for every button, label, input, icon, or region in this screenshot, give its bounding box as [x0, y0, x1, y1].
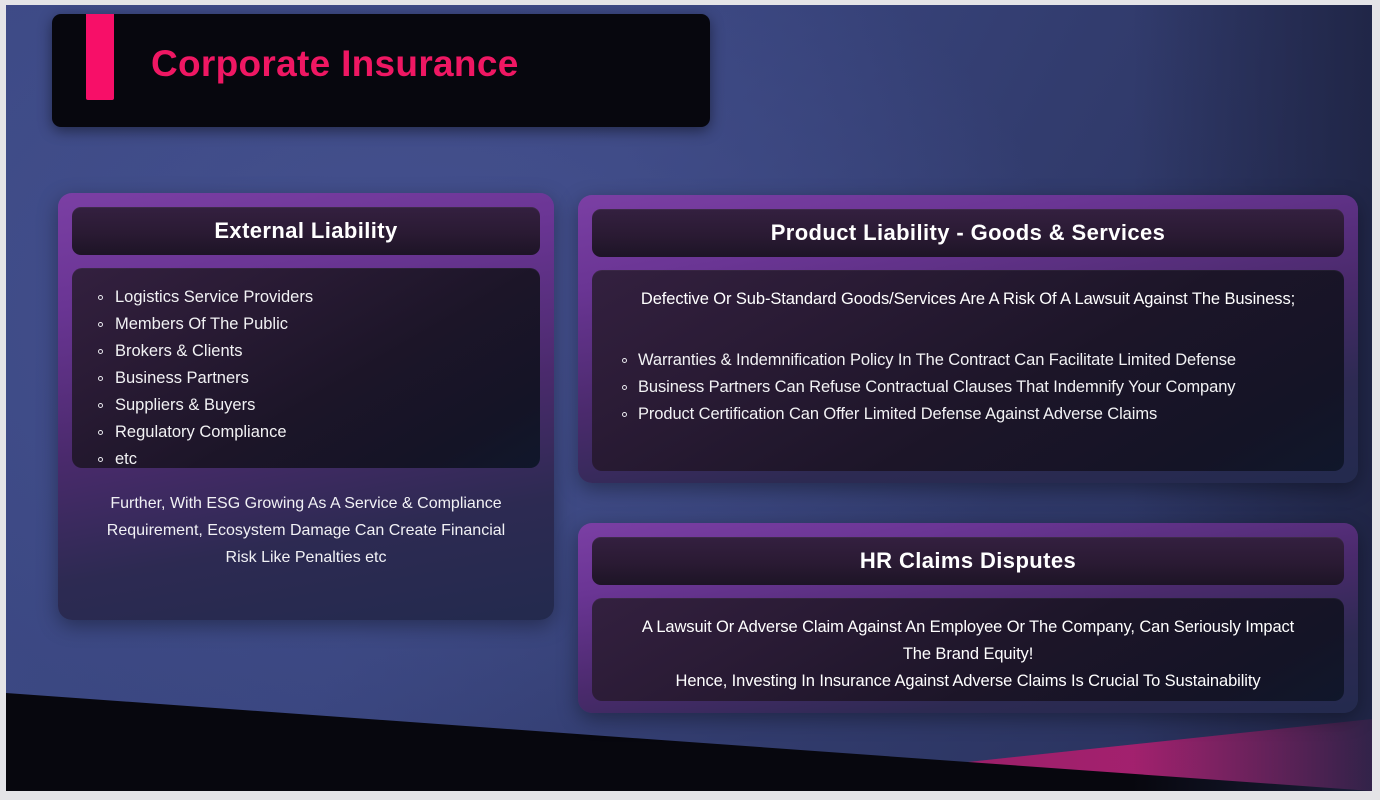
list-item: Members Of The Public [98, 311, 540, 338]
bullet-dot-icon [98, 403, 103, 408]
card-external-liability: External Liability Logistics Service Pro… [58, 193, 554, 620]
bullet-dot-icon [98, 457, 103, 462]
list-item: etc [98, 446, 540, 473]
list-item-label: etc [115, 450, 137, 468]
list-item-label: Warranties & Indemnification Policy In T… [638, 351, 1236, 369]
product-liability-lead-text: Defective Or Sub-Standard Goods/Services… [610, 290, 1326, 309]
card-hr-claims-disputes: HR Claims Disputes A Lawsuit Or Adverse … [578, 523, 1358, 713]
list-item-label: Logistics Service Providers [115, 288, 313, 306]
hr-claims-line-1: A Lawsuit Or Adverse Claim Against An Em… [606, 614, 1330, 641]
card-header-product-liability: Product Liability - Goods & Services [592, 209, 1344, 257]
external-liability-bullet-list: Logistics Service Providers Members Of T… [98, 284, 540, 473]
bullet-dot-icon [98, 295, 103, 300]
list-item-label: Business Partners [115, 369, 249, 387]
bullet-dot-icon [98, 349, 103, 354]
hr-claims-line-3: Hence, Investing In Insurance Against Ad… [606, 668, 1330, 695]
card-product-liability: Product Liability - Goods & Services Def… [578, 195, 1358, 483]
card-title-product-liability: Product Liability - Goods & Services [771, 220, 1166, 246]
list-item-label: Regulatory Compliance [115, 423, 287, 441]
list-item-label: Suppliers & Buyers [115, 396, 255, 414]
external-liability-note: Further, With ESG Growing As A Service &… [72, 490, 540, 571]
card-body-external-liability: Logistics Service Providers Members Of T… [72, 268, 540, 468]
slide-frame: Corporate Insurance External Liability L… [0, 0, 1380, 800]
list-item-label: Brokers & Clients [115, 342, 242, 360]
title-accent-bar [86, 14, 114, 100]
list-item-label: Product Certification Can Offer Limited … [638, 405, 1157, 423]
list-item: Warranties & Indemnification Policy In T… [622, 347, 1326, 374]
page-title: Corporate Insurance [151, 43, 519, 85]
list-item: Product Certification Can Offer Limited … [622, 401, 1326, 428]
magenta-wedge-dark [696, 719, 1372, 791]
list-item: Suppliers & Buyers [98, 392, 540, 419]
hr-claims-line-2: The Brand Equity! [606, 641, 1330, 668]
card-title-hr-claims: HR Claims Disputes [860, 548, 1076, 574]
title-banner: Corporate Insurance [52, 14, 710, 127]
bullet-dot-icon [622, 412, 627, 417]
bullet-dot-icon [98, 376, 103, 381]
magenta-wedge [696, 719, 1372, 791]
card-body-hr-claims: A Lawsuit Or Adverse Claim Against An Em… [592, 598, 1344, 701]
card-body-product-liability: Defective Or Sub-Standard Goods/Services… [592, 270, 1344, 471]
list-item: Business Partners Can Refuse Contractual… [622, 374, 1326, 401]
list-item: Regulatory Compliance [98, 419, 540, 446]
card-header-hr-claims: HR Claims Disputes [592, 537, 1344, 585]
list-item-label: Members Of The Public [115, 315, 288, 333]
list-item: Brokers & Clients [98, 338, 540, 365]
list-item-label: Business Partners Can Refuse Contractual… [638, 378, 1235, 396]
bullet-dot-icon [622, 385, 627, 390]
card-title-external-liability: External Liability [214, 218, 397, 244]
product-liability-bullet-list: Warranties & Indemnification Policy In T… [610, 347, 1326, 428]
card-header-external-liability: External Liability [72, 207, 540, 255]
list-item: Logistics Service Providers [98, 284, 540, 311]
bullet-dot-icon [622, 358, 627, 363]
bullet-dot-icon [98, 322, 103, 327]
list-item: Business Partners [98, 365, 540, 392]
slide-canvas: Corporate Insurance External Liability L… [6, 5, 1372, 791]
bullet-dot-icon [98, 430, 103, 435]
